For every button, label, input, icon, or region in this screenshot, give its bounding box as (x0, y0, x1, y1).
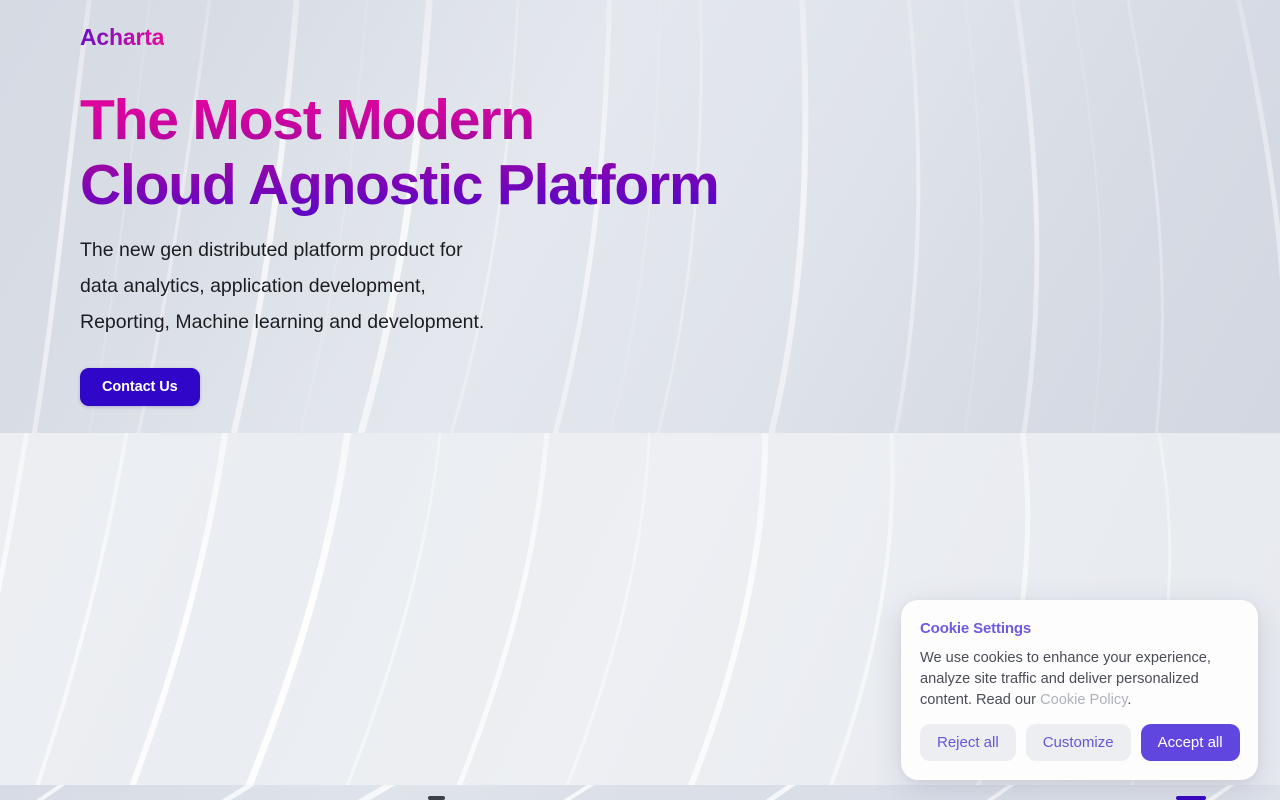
cookie-policy-link[interactable]: Cookie Policy (1040, 692, 1127, 708)
headline-line-2: Cloud Agnostic Platform (80, 153, 840, 218)
page-title: The Most Modern Cloud Agnostic Platform (80, 88, 840, 218)
accept-all-button[interactable]: Accept all (1141, 724, 1240, 761)
cookie-banner-description: We use cookies to enhance your experienc… (920, 648, 1239, 711)
headline-line-1: The Most Modern (80, 88, 534, 152)
subtitle-line-1: The new gen distributed platform product… (80, 232, 720, 268)
subtitle-line-2: data analytics, application development, (80, 268, 720, 304)
page-content: Acharta The Most Modern Cloud Agnostic P… (0, 0, 1280, 800)
cookie-banner-title: Cookie Settings (920, 620, 1239, 637)
cookie-banner-actions: Reject all Customize Accept all (920, 724, 1240, 761)
cookie-settings-banner: Cookie Settings We use cookies to enhanc… (901, 600, 1258, 780)
contact-us-button[interactable]: Contact Us (80, 368, 200, 406)
brand-logo[interactable]: Acharta (80, 24, 164, 52)
subtitle-line-3: Reporting, Machine learning and developm… (80, 304, 720, 340)
cookie-banner-text-part2: . (1127, 692, 1131, 708)
reject-all-button[interactable]: Reject all (920, 724, 1016, 761)
hero-subtitle: The new gen distributed platform product… (80, 232, 720, 340)
customize-button[interactable]: Customize (1026, 724, 1131, 761)
landing-page: Acharta The Most Modern Cloud Agnostic P… (0, 0, 1280, 800)
